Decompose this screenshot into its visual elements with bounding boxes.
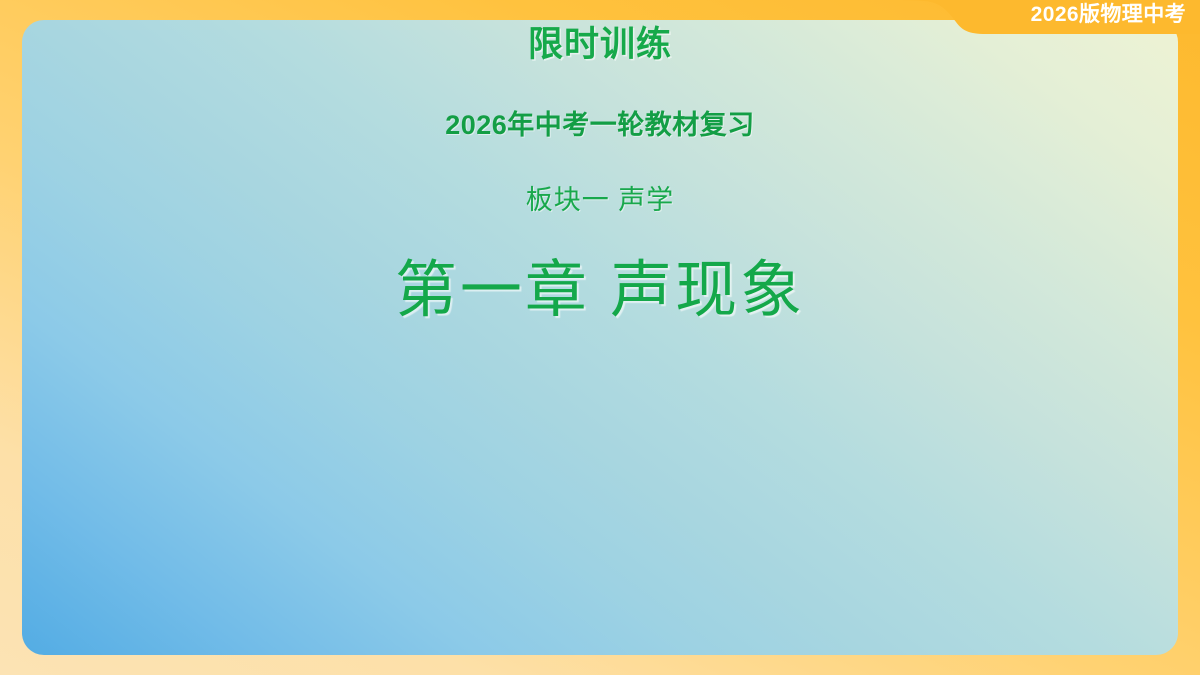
corner-tab-label: 2026版物理中考 <box>1031 1 1186 29</box>
slide-module-text: 板块一 声学 <box>0 178 1200 217</box>
slide-subject-text: 2026年中考一轮教材复习 <box>0 103 1200 142</box>
slide-chapter-title: 第一章 声现象 <box>0 239 1200 329</box>
slide-root: 2026版物理中考 限时训练 2026年中考一轮教材复习 板块一 声学 第一章 … <box>0 0 1200 675</box>
slide-text-block: 限时训练 2026年中考一轮教材复习 板块一 声学 第一章 声现象 <box>0 0 1200 329</box>
slide-kicker-text: 限时训练 <box>0 16 1200 67</box>
